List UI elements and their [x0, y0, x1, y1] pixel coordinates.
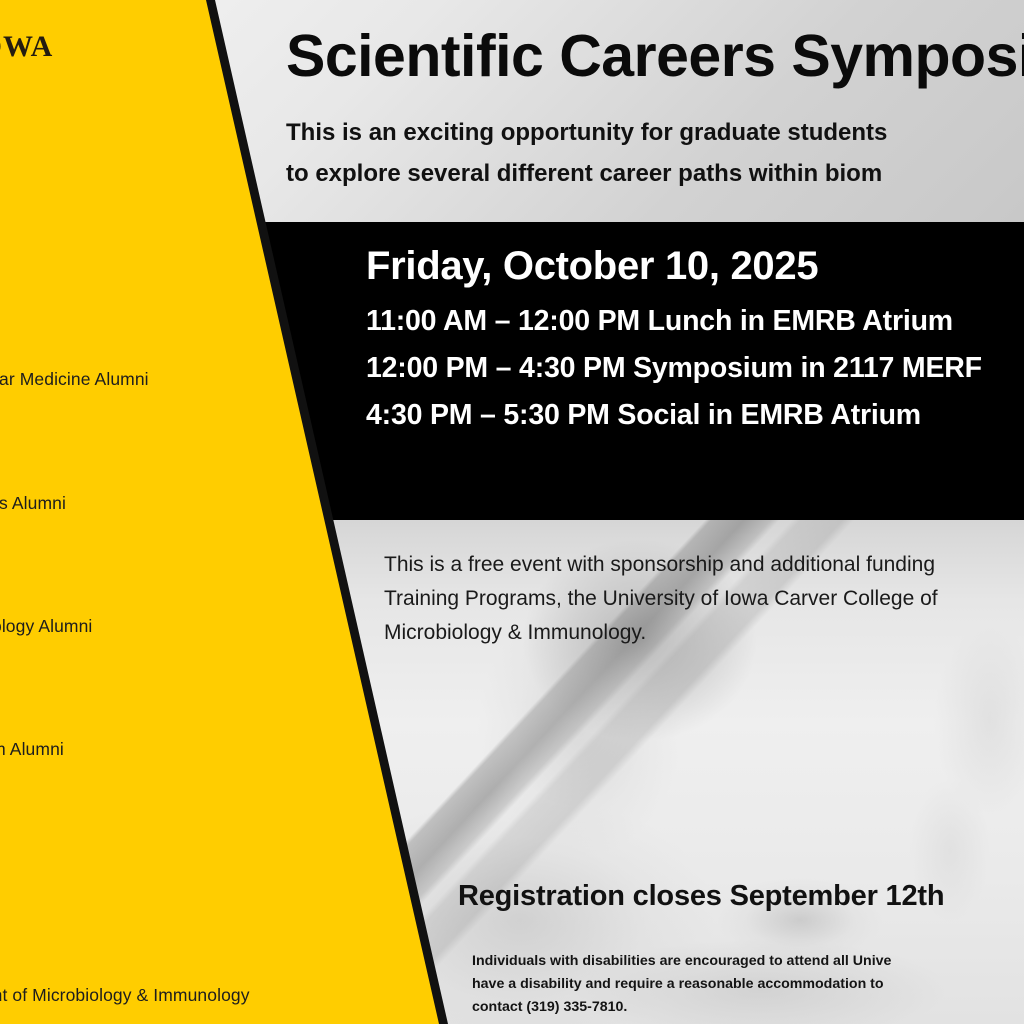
funding-line-3: Microbiology & Immunology. [384, 616, 938, 650]
poster-canvas: Scientific Careers Symposium This is an … [0, 0, 1024, 1024]
accessibility-line-2: have a disability and require a reasonab… [472, 973, 891, 996]
sidebar-item-immunology-alumni: Immunology Alumni [0, 616, 92, 637]
sidebar: IOWA Molecular Medicine Alumni Genetics … [0, 0, 440, 1024]
sidebar-item-molecular-medicine-alumni: Molecular Medicine Alumni [0, 369, 149, 390]
university-of-iowa-logo: IOWA [0, 30, 53, 64]
schedule-item-lunch: 11:00 AM – 12:00 PM Lunch in EMRB Atrium [366, 305, 953, 338]
funding-line-1: This is a free event with sponsorship an… [384, 548, 938, 582]
funding-line-2: Training Programs, the University of Iow… [384, 582, 938, 616]
schedule-item-social: 4:30 PM – 5:30 PM Social in EMRB Atrium [366, 399, 921, 432]
sidebar-item-genetics-alumni: Genetics Alumni [0, 493, 66, 514]
accessibility-line-1: Individuals with disabilities are encour… [472, 950, 891, 973]
funding-note: This is a free event with sponsorship an… [384, 548, 938, 650]
schedule-item-symposium: 12:00 PM – 4:30 PM Symposium in 2117 MER… [366, 352, 982, 385]
accessibility-line-3: contact (319) 335-7810. [472, 996, 891, 1019]
registration-deadline: Registration closes September 12th [458, 880, 944, 913]
department-label: Department of Microbiology & Immunology [0, 985, 250, 1006]
sidebar-item-program-alumni: Program Alumni [0, 739, 64, 760]
accessibility-note: Individuals with disabilities are encour… [472, 950, 891, 1019]
